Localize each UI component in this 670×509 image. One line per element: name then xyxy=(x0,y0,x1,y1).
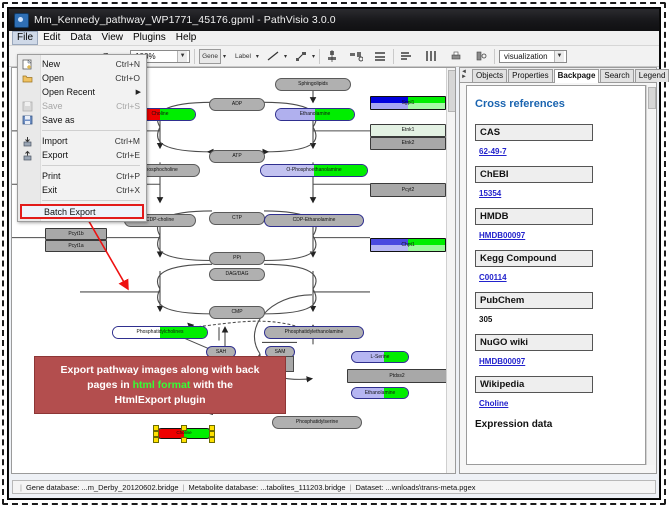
node-label: Sphingolipids xyxy=(298,82,328,87)
node-atp[interactable]: ATP xyxy=(209,150,265,163)
menu-item-export[interactable]: Export Ctrl+E xyxy=(18,148,146,162)
line-icon xyxy=(265,48,282,65)
node-label: CTP xyxy=(232,216,242,221)
canvas-vertical-scrollbar[interactable] xyxy=(446,68,455,473)
node-cdp-ethanolamine[interactable]: CDP-Ethanolamine xyxy=(264,214,364,227)
node-label: ATP xyxy=(232,154,241,159)
xref-wikipedia: Wikipedia Choline xyxy=(475,376,637,411)
chevron-down-icon[interactable]: ▾ xyxy=(284,53,287,60)
menu-item-label: Save as xyxy=(42,115,75,125)
menu-separator xyxy=(42,200,140,201)
xref-kegg-compound: Kegg Compound C00114 xyxy=(475,250,637,285)
node-label: SAH xyxy=(216,350,226,355)
pathvisio-icon xyxy=(14,13,29,28)
receptor-icon xyxy=(293,48,310,65)
node-label: Ethanolamine xyxy=(276,112,354,117)
node-phosphatidylethanolamine[interactable]: Phosphatidylethanolamine xyxy=(264,326,364,339)
xref-source-label: Kegg Compound xyxy=(475,250,593,267)
screenshot-root: Mm_Kennedy_pathway_WP1771_45176.gpml - P… xyxy=(0,0,670,509)
file-menu-dropdown[interactable]: New Ctrl+N Open Ctrl+O Open Recent ▶ Sav… xyxy=(17,54,147,222)
column-icon[interactable] xyxy=(423,48,440,65)
backpage-content: Cross references CAS 62-49-7 ChEBI 15354… xyxy=(466,85,646,465)
status-dataset-label: Dataset: xyxy=(355,483,383,492)
menu-view[interactable]: View xyxy=(96,31,128,45)
xref-value-link[interactable]: C00114 xyxy=(479,273,507,282)
menu-item-open-recent[interactable]: Open Recent ▶ xyxy=(18,85,146,99)
menu-item-accel: Ctrl+S xyxy=(116,101,146,111)
node-label: Phosphatidylethanolamine xyxy=(285,330,344,335)
xref-nugo-wiki: NuGO wiki HMDB00097 xyxy=(475,334,637,369)
node-label: DAG/DAG xyxy=(225,272,248,277)
status-gene-database-label: Gene database: xyxy=(26,483,79,492)
menu-item-label: New xyxy=(42,59,60,69)
status-metabolite-database-value: ...tabolites_111203.bridge xyxy=(260,483,345,492)
node-label: ADP xyxy=(232,102,242,107)
chevron-down-icon[interactable]: ▾ xyxy=(256,53,259,60)
side-panel-tabs: ◄► Objects Properties Backpage Search Le… xyxy=(460,68,656,83)
node-sphingolipids[interactable]: Sphingolipids xyxy=(275,78,351,91)
chevron-down-icon[interactable]: ▼ xyxy=(177,51,187,62)
tab-backpage[interactable]: Backpage xyxy=(554,69,600,83)
node-ppi[interactable]: PPi xyxy=(209,252,265,265)
menu-item-label: Exit xyxy=(42,185,57,195)
print-icon[interactable] xyxy=(448,48,465,65)
annotation-highlight: html format xyxy=(133,379,191,391)
tab-properties[interactable]: Properties xyxy=(508,69,552,82)
node-label: Ptdss2 xyxy=(389,374,404,379)
node-label: O-Phosphoethanolamine xyxy=(261,168,367,173)
menu-item-label: Open xyxy=(42,73,64,83)
node-label: CDP-Ethanolamine xyxy=(293,218,336,223)
menu-item-exit[interactable]: Exit Ctrl+X xyxy=(18,183,146,197)
node-cmp[interactable]: CMP xyxy=(209,306,265,319)
menu-item-accel: Ctrl+E xyxy=(116,150,146,160)
xref-value-link[interactable]: HMDB00097 xyxy=(479,357,525,366)
node-ctp[interactable]: CTP xyxy=(209,212,265,225)
distribute-icon[interactable] xyxy=(398,48,415,65)
xref-value-link[interactable]: HMDB00097 xyxy=(479,231,525,240)
align-center-icon[interactable] xyxy=(324,48,341,65)
xref-chebi: ChEBI 15354 xyxy=(475,166,637,201)
title-bar: Mm_Kennedy_pathway_WP1771_45176.gpml - P… xyxy=(9,9,659,31)
xref-source-label: Wikipedia xyxy=(475,376,593,393)
menu-item-accel: Ctrl+O xyxy=(115,73,146,83)
tab-objects[interactable]: Objects xyxy=(472,69,507,82)
node-chpt1[interactable]: Chpt1 xyxy=(370,238,446,252)
node-choline-selected[interactable]: Choline xyxy=(156,428,212,439)
menu-bar: File Edit Data View Plugins Help xyxy=(9,31,659,46)
menu-file[interactable]: File xyxy=(12,31,38,45)
node-pcyt2[interactable]: Pcyt2 xyxy=(370,183,446,197)
node-label: Etnk2 xyxy=(402,141,415,146)
chevron-down-icon[interactable]: ▾ xyxy=(312,53,315,60)
node-adp[interactable]: ADP xyxy=(209,98,265,111)
menu-item-import[interactable]: Import Ctrl+M xyxy=(18,134,146,148)
application-window: Mm_Kennedy_pathway_WP1771_45176.gpml - P… xyxy=(8,8,660,499)
menu-item-label: Batch Export xyxy=(44,207,96,217)
save-as-icon xyxy=(22,115,33,126)
menu-item-accel: Ctrl+M xyxy=(115,136,146,146)
menu-item-accel: Ctrl+N xyxy=(116,59,146,69)
menu-item-batch-export[interactable]: Batch Export xyxy=(20,204,144,219)
label-tool-label: Label xyxy=(232,49,254,64)
new-file-icon xyxy=(22,59,33,70)
chevron-down-icon[interactable]: ▾ xyxy=(223,53,226,60)
node-label: L-Serine xyxy=(352,355,408,360)
node-o-phosphoethanolamine[interactable]: O-Phosphoethanolamine xyxy=(260,164,368,177)
menu-item-label: Open Recent xyxy=(42,87,95,97)
tab-legend[interactable]: Legend xyxy=(635,69,670,82)
node-label: Sgpl1 xyxy=(371,101,445,106)
visualization-value: visualization xyxy=(504,52,548,61)
node-pcyt1b[interactable]: Pcyt1b xyxy=(45,228,107,240)
resize-handle[interactable] xyxy=(181,437,187,443)
menu-item-print[interactable]: Print Ctrl+P xyxy=(18,169,146,183)
node-ethanolamine-2[interactable]: Ethanolamine xyxy=(351,387,409,399)
xref-hmdb: HMDB HMDB00097 xyxy=(475,208,637,243)
menu-plugins[interactable]: Plugins xyxy=(128,31,171,45)
tab-search[interactable]: Search xyxy=(600,69,633,82)
submenu-arrow-icon: ▶ xyxy=(136,88,146,96)
scrollbar-thumb[interactable] xyxy=(448,70,456,112)
menu-item-accel: Ctrl+X xyxy=(116,185,146,195)
cross-references-heading: Cross references xyxy=(475,98,637,110)
resize-handle[interactable] xyxy=(153,437,159,443)
side-panel-scrollbar[interactable] xyxy=(646,85,655,465)
receptor-tool[interactable]: ▾ xyxy=(293,48,315,65)
menu-item-label: Print xyxy=(42,171,61,181)
node-phosphatidylcholines[interactable]: Phosphatidylcholines xyxy=(112,326,208,339)
node-etnk1[interactable]: Etnk1 xyxy=(370,124,446,137)
menu-item-label: Save xyxy=(42,101,63,111)
node-ethanolamine[interactable]: Ethanolamine xyxy=(275,108,355,121)
status-gene-database-value: ...m_Derby_20120602.bridge xyxy=(81,483,178,492)
import-icon xyxy=(22,136,33,147)
node-label: PPi xyxy=(233,256,241,261)
annotation-callout: Export pathway images along with back pa… xyxy=(34,356,286,414)
node-label: Ethanolamine xyxy=(352,391,408,396)
window-title: Mm_Kennedy_pathway_WP1771_45176.gpml - P… xyxy=(34,14,336,26)
annotation-line-2a: pages in xyxy=(87,379,133,391)
menu-separator xyxy=(42,165,140,166)
node-label: Phosphocholine xyxy=(142,168,178,173)
node-label: Pcyt1b xyxy=(68,232,83,237)
save-disk-icon xyxy=(22,101,33,112)
chevron-down-icon[interactable]: ▼ xyxy=(554,51,564,62)
node-label: CDP-choline xyxy=(146,218,174,223)
node-phosphatidylserine[interactable]: Phosphatidylserine xyxy=(272,416,362,429)
menu-item-accel: Ctrl+P xyxy=(116,171,146,181)
menu-item-save-as[interactable]: Save as xyxy=(18,113,146,127)
status-metabolite-database-label: Metabolite database: xyxy=(189,483,259,492)
node-label: Etnk1 xyxy=(402,128,415,133)
node-l-serine[interactable]: L-Serine xyxy=(351,351,409,363)
order-icon[interactable] xyxy=(473,48,490,65)
xref-source-label: CAS xyxy=(475,124,593,141)
side-panel: ◄► Objects Properties Backpage Search Le… xyxy=(459,67,657,474)
xref-source-label: NuGO wiki xyxy=(475,334,593,351)
xref-source-label: HMDB xyxy=(475,208,593,225)
status-dataset-value: ...wnloads\trans-meta.pgex xyxy=(385,483,475,492)
scrollbar-thumb[interactable] xyxy=(648,87,656,109)
resize-handle[interactable] xyxy=(209,437,215,443)
menu-separator xyxy=(42,130,140,131)
open-folder-icon xyxy=(22,73,33,84)
node-label: CMP xyxy=(231,310,242,315)
shape-tool-label: Gene xyxy=(199,49,221,64)
menu-edit[interactable]: Edit xyxy=(38,31,65,45)
shape-tool[interactable]: Gene ▾ xyxy=(199,49,226,64)
xref-cas: CAS 62-49-7 xyxy=(475,124,637,159)
menu-item-new[interactable]: New Ctrl+N xyxy=(18,57,146,71)
xref-value-link[interactable]: 15354 xyxy=(479,189,501,198)
export-icon xyxy=(22,150,33,161)
node-label: Chpt1 xyxy=(371,243,445,248)
visualization-combobox[interactable]: visualization ▼ xyxy=(499,50,567,63)
annotation-line-2b: with the xyxy=(190,379,233,391)
xref-pubchem: PubChem 305 xyxy=(475,292,637,327)
label-tool[interactable]: Label ▾ xyxy=(232,49,259,64)
annotation-line-3: HtmlExport plugin xyxy=(115,394,206,406)
menu-item-label: Export xyxy=(42,150,68,160)
status-bar: | Gene database: ...m_Derby_20120602.bri… xyxy=(9,476,659,498)
node-ptdss2[interactable]: Ptdss2 xyxy=(347,369,447,383)
node-label: Phosphatidylcholines xyxy=(113,330,207,335)
xref-value-link[interactable]: 62-49-7 xyxy=(479,147,507,156)
align-middle-icon[interactable] xyxy=(348,48,365,65)
menu-item-save: Save Ctrl+S xyxy=(18,99,146,113)
node-dag[interactable]: DAG/DAG xyxy=(209,268,265,281)
expression-data-heading: Expression data xyxy=(475,419,637,430)
menu-help[interactable]: Help xyxy=(171,31,202,45)
menu-data[interactable]: Data xyxy=(65,31,96,45)
node-label: SAM xyxy=(275,350,286,355)
node-label: Pcyt2 xyxy=(402,188,415,193)
node-label: Choline xyxy=(157,431,211,436)
annotation-line-1: Export pathway images along with back xyxy=(61,364,260,376)
line-tool[interactable]: ▾ xyxy=(265,48,287,65)
menu-item-label: Import xyxy=(42,136,68,146)
xref-source-label: ChEBI xyxy=(475,166,593,183)
xref-value-link[interactable]: Choline xyxy=(479,399,508,408)
node-etnk2[interactable]: Etnk2 xyxy=(370,137,446,150)
node-pcyt1a[interactable]: Pcyt1a xyxy=(45,240,107,252)
node-label: Pcyt1a xyxy=(68,244,83,249)
xref-value-text: 305 xyxy=(479,315,492,324)
node-label: Phosphatidylserine xyxy=(296,420,338,425)
tab-scroll-arrows[interactable]: ◄► xyxy=(461,70,467,80)
menu-item-open[interactable]: Open Ctrl+O xyxy=(18,71,146,85)
node-sgpl1[interactable]: Sgpl1 xyxy=(370,96,446,110)
xref-source-label: PubChem xyxy=(475,292,593,309)
stack-icon[interactable] xyxy=(372,48,389,65)
